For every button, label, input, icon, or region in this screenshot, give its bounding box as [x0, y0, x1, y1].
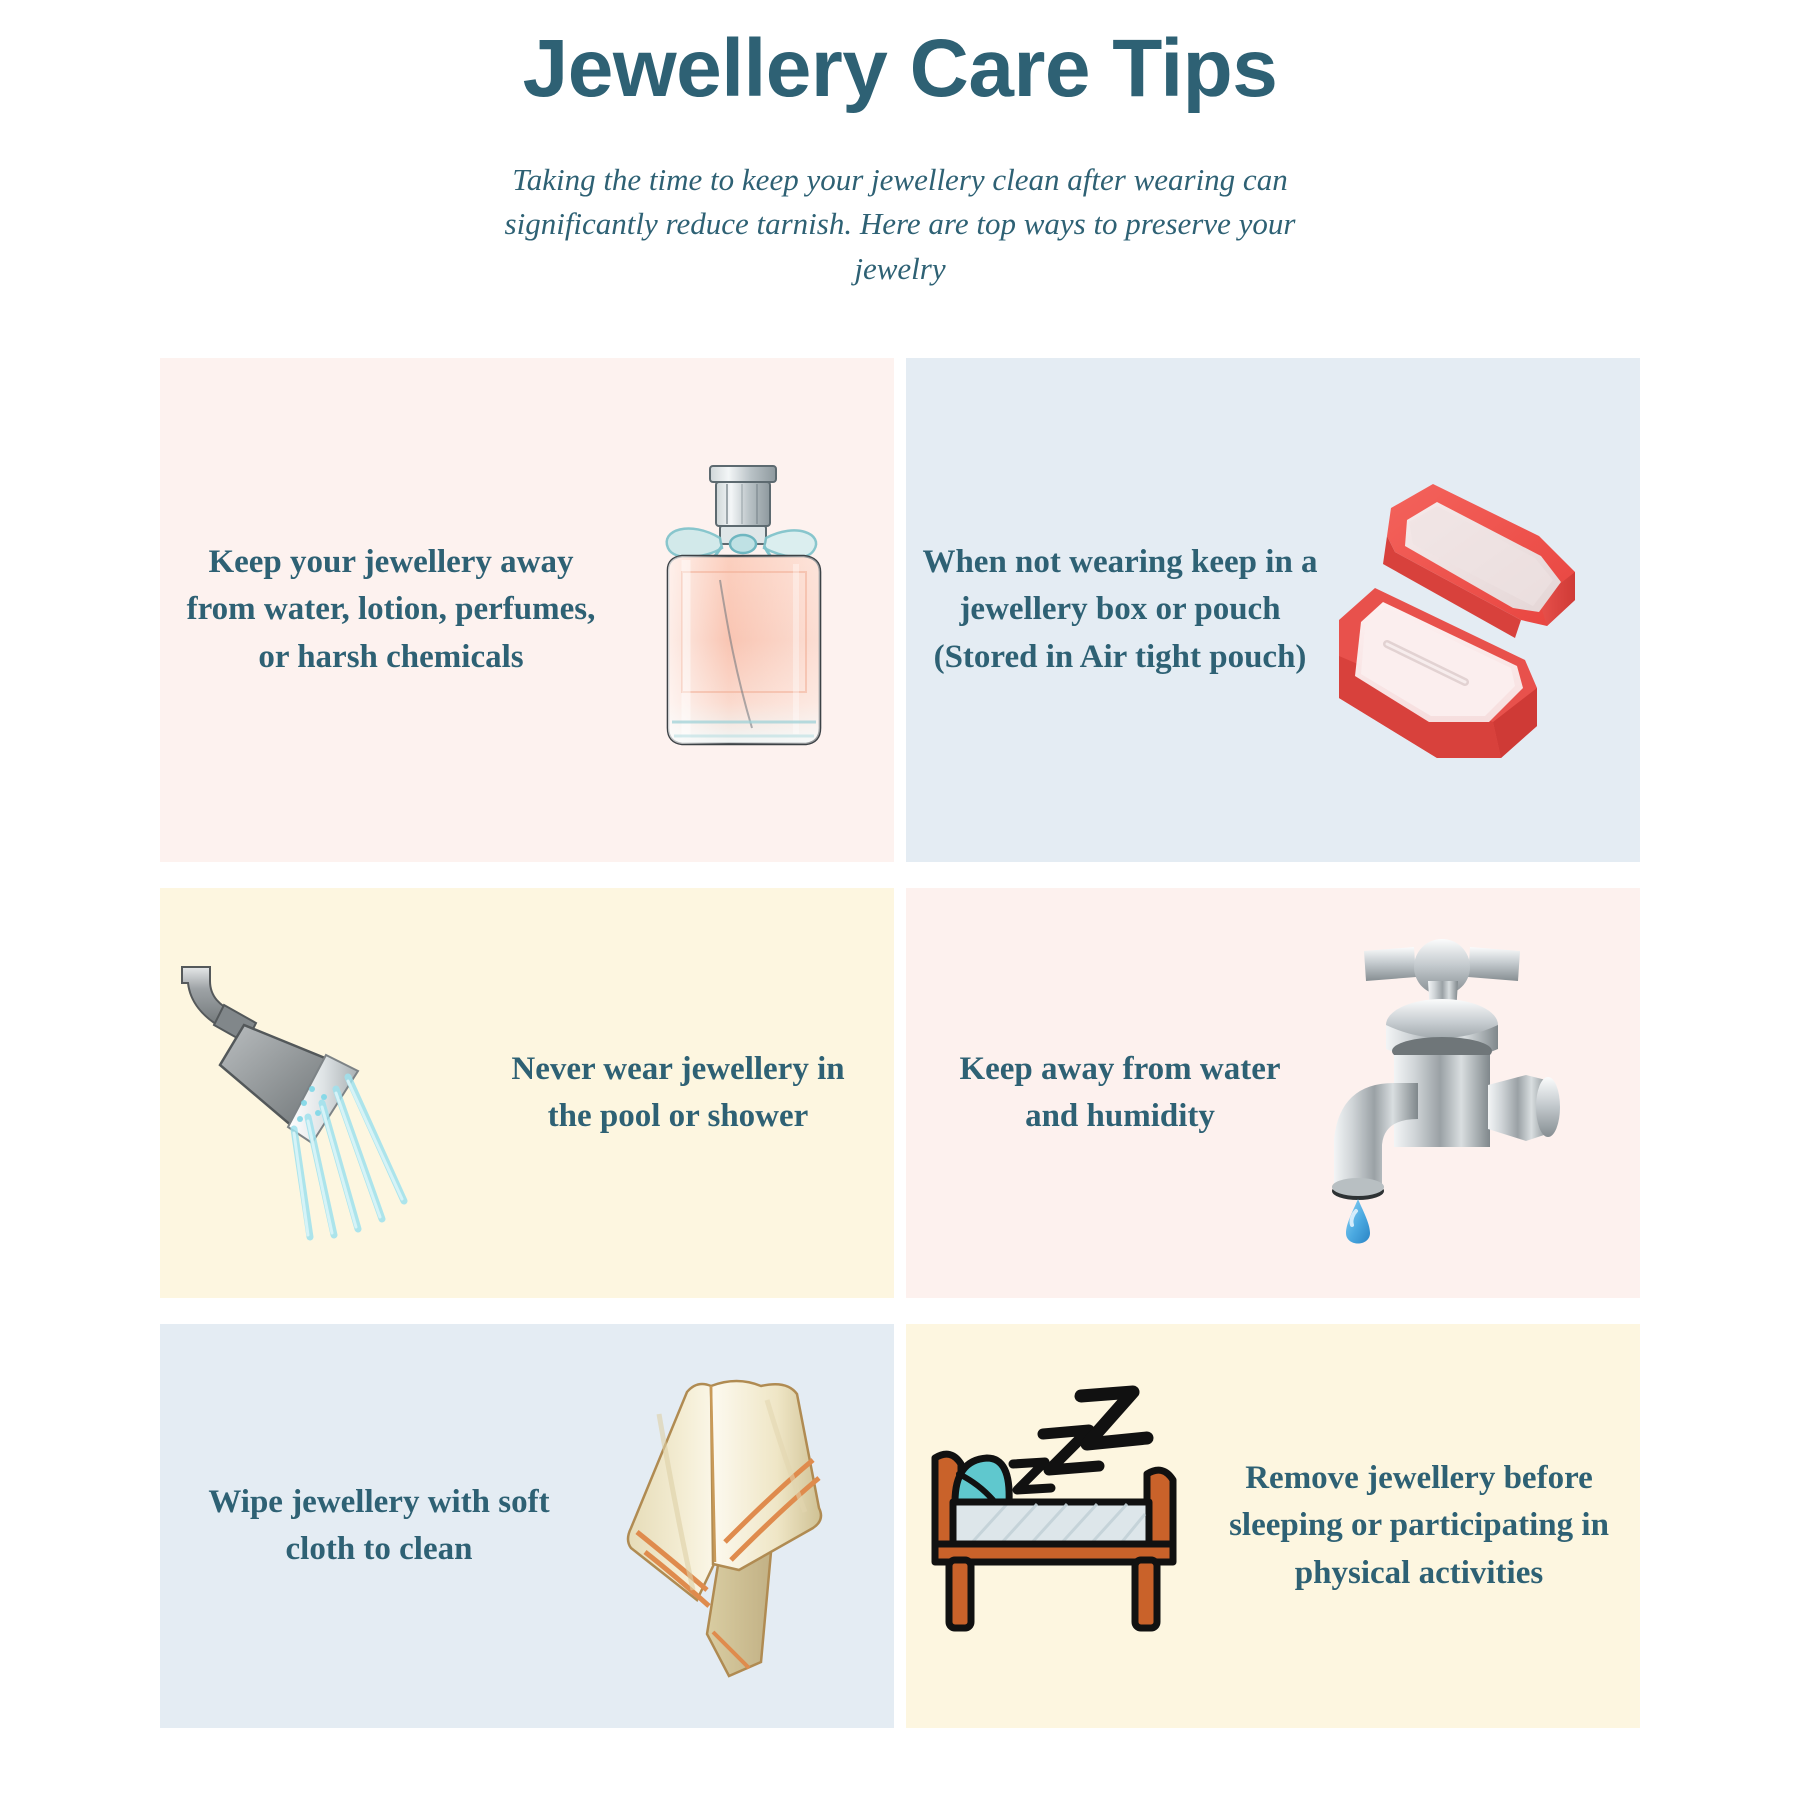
tip-text: Keep away from water and humidity — [930, 1046, 1310, 1140]
header: Jewellery Care Tips Taking the time to k… — [0, 0, 1800, 291]
tip-card-no-pool-shower[interactable]: Never wear jewellery in the pool or show… — [160, 888, 894, 1298]
tip-text: When not wearing keep in a jewellery box… — [920, 539, 1320, 681]
tip-card-wipe-with-cloth[interactable]: Wipe jewellery with soft cloth to clean — [160, 1324, 894, 1728]
shower-head-icon — [166, 928, 486, 1258]
faucet-icon — [1310, 928, 1630, 1258]
page-title: Jewellery Care Tips — [0, 26, 1800, 112]
tip-card-avoid-humidity[interactable]: Keep away from water and humidity — [906, 888, 1640, 1298]
tips-grid: Keep your jewellery away from water, lot… — [160, 358, 1640, 1728]
infographic-page: Jewellery Care Tips Taking the time to k… — [0, 0, 1800, 1800]
bed-sleep-icon — [916, 1381, 1216, 1671]
tip-card-store-in-box[interactable]: When not wearing keep in a jewellery box… — [906, 358, 1640, 862]
tip-text: Never wear jewellery in the pool or show… — [486, 1046, 870, 1140]
tip-text: Wipe jewellery with soft cloth to clean — [174, 1479, 584, 1573]
perfume-bottle-icon — [610, 460, 878, 760]
page-subtitle: Taking the time to keep your jewellery c… — [500, 158, 1300, 291]
tip-card-avoid-chemicals[interactable]: Keep your jewellery away from water, lot… — [160, 358, 894, 862]
tip-text: Keep your jewellery away from water, lot… — [178, 539, 610, 681]
cloth-icon — [584, 1356, 874, 1696]
tip-text: Remove jewellery before sleeping or part… — [1216, 1455, 1622, 1597]
ring-box-icon — [1320, 445, 1630, 775]
tip-card-remove-before-sleep[interactable]: Remove jewellery before sleeping or part… — [906, 1324, 1640, 1728]
